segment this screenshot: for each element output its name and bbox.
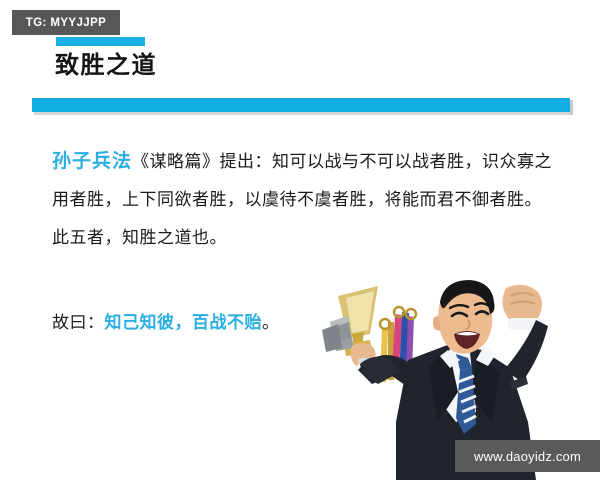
source-title: 孙子兵法 (52, 150, 132, 172)
divider-shadow-bottom (34, 112, 572, 115)
divider-shadow-right (570, 100, 573, 115)
channel-badge-label: TG: MYYJJPP (26, 17, 106, 29)
channel-badge: TG: MYYJJPP (12, 10, 120, 35)
quote-prefix: 故曰： (52, 313, 105, 333)
divider-bar (32, 98, 570, 112)
body-paragraph: 孙子兵法《谋略篇》提出：知可以战与不可以战者胜，识众寡之用者胜，上下同欲者胜，以… (52, 142, 552, 257)
slide-canvas: TG: MYYJJPP 致胜之道 孙子兵法《谋略篇》提出：知可以战与不可以战者胜… (0, 0, 600, 480)
quote-highlight: 知己知彼，百战不贻 (105, 313, 263, 333)
title-accent-bar (56, 37, 145, 46)
site-watermark: www.daoyidz.com (455, 440, 600, 472)
page-title: 致胜之道 (55, 50, 157, 80)
quote-suffix: 。 (262, 313, 280, 333)
closing-quote: 故曰：知己知彼，百战不贻。 (52, 308, 280, 338)
divider (32, 95, 570, 115)
site-watermark-label: www.daoyidz.com (474, 449, 581, 464)
